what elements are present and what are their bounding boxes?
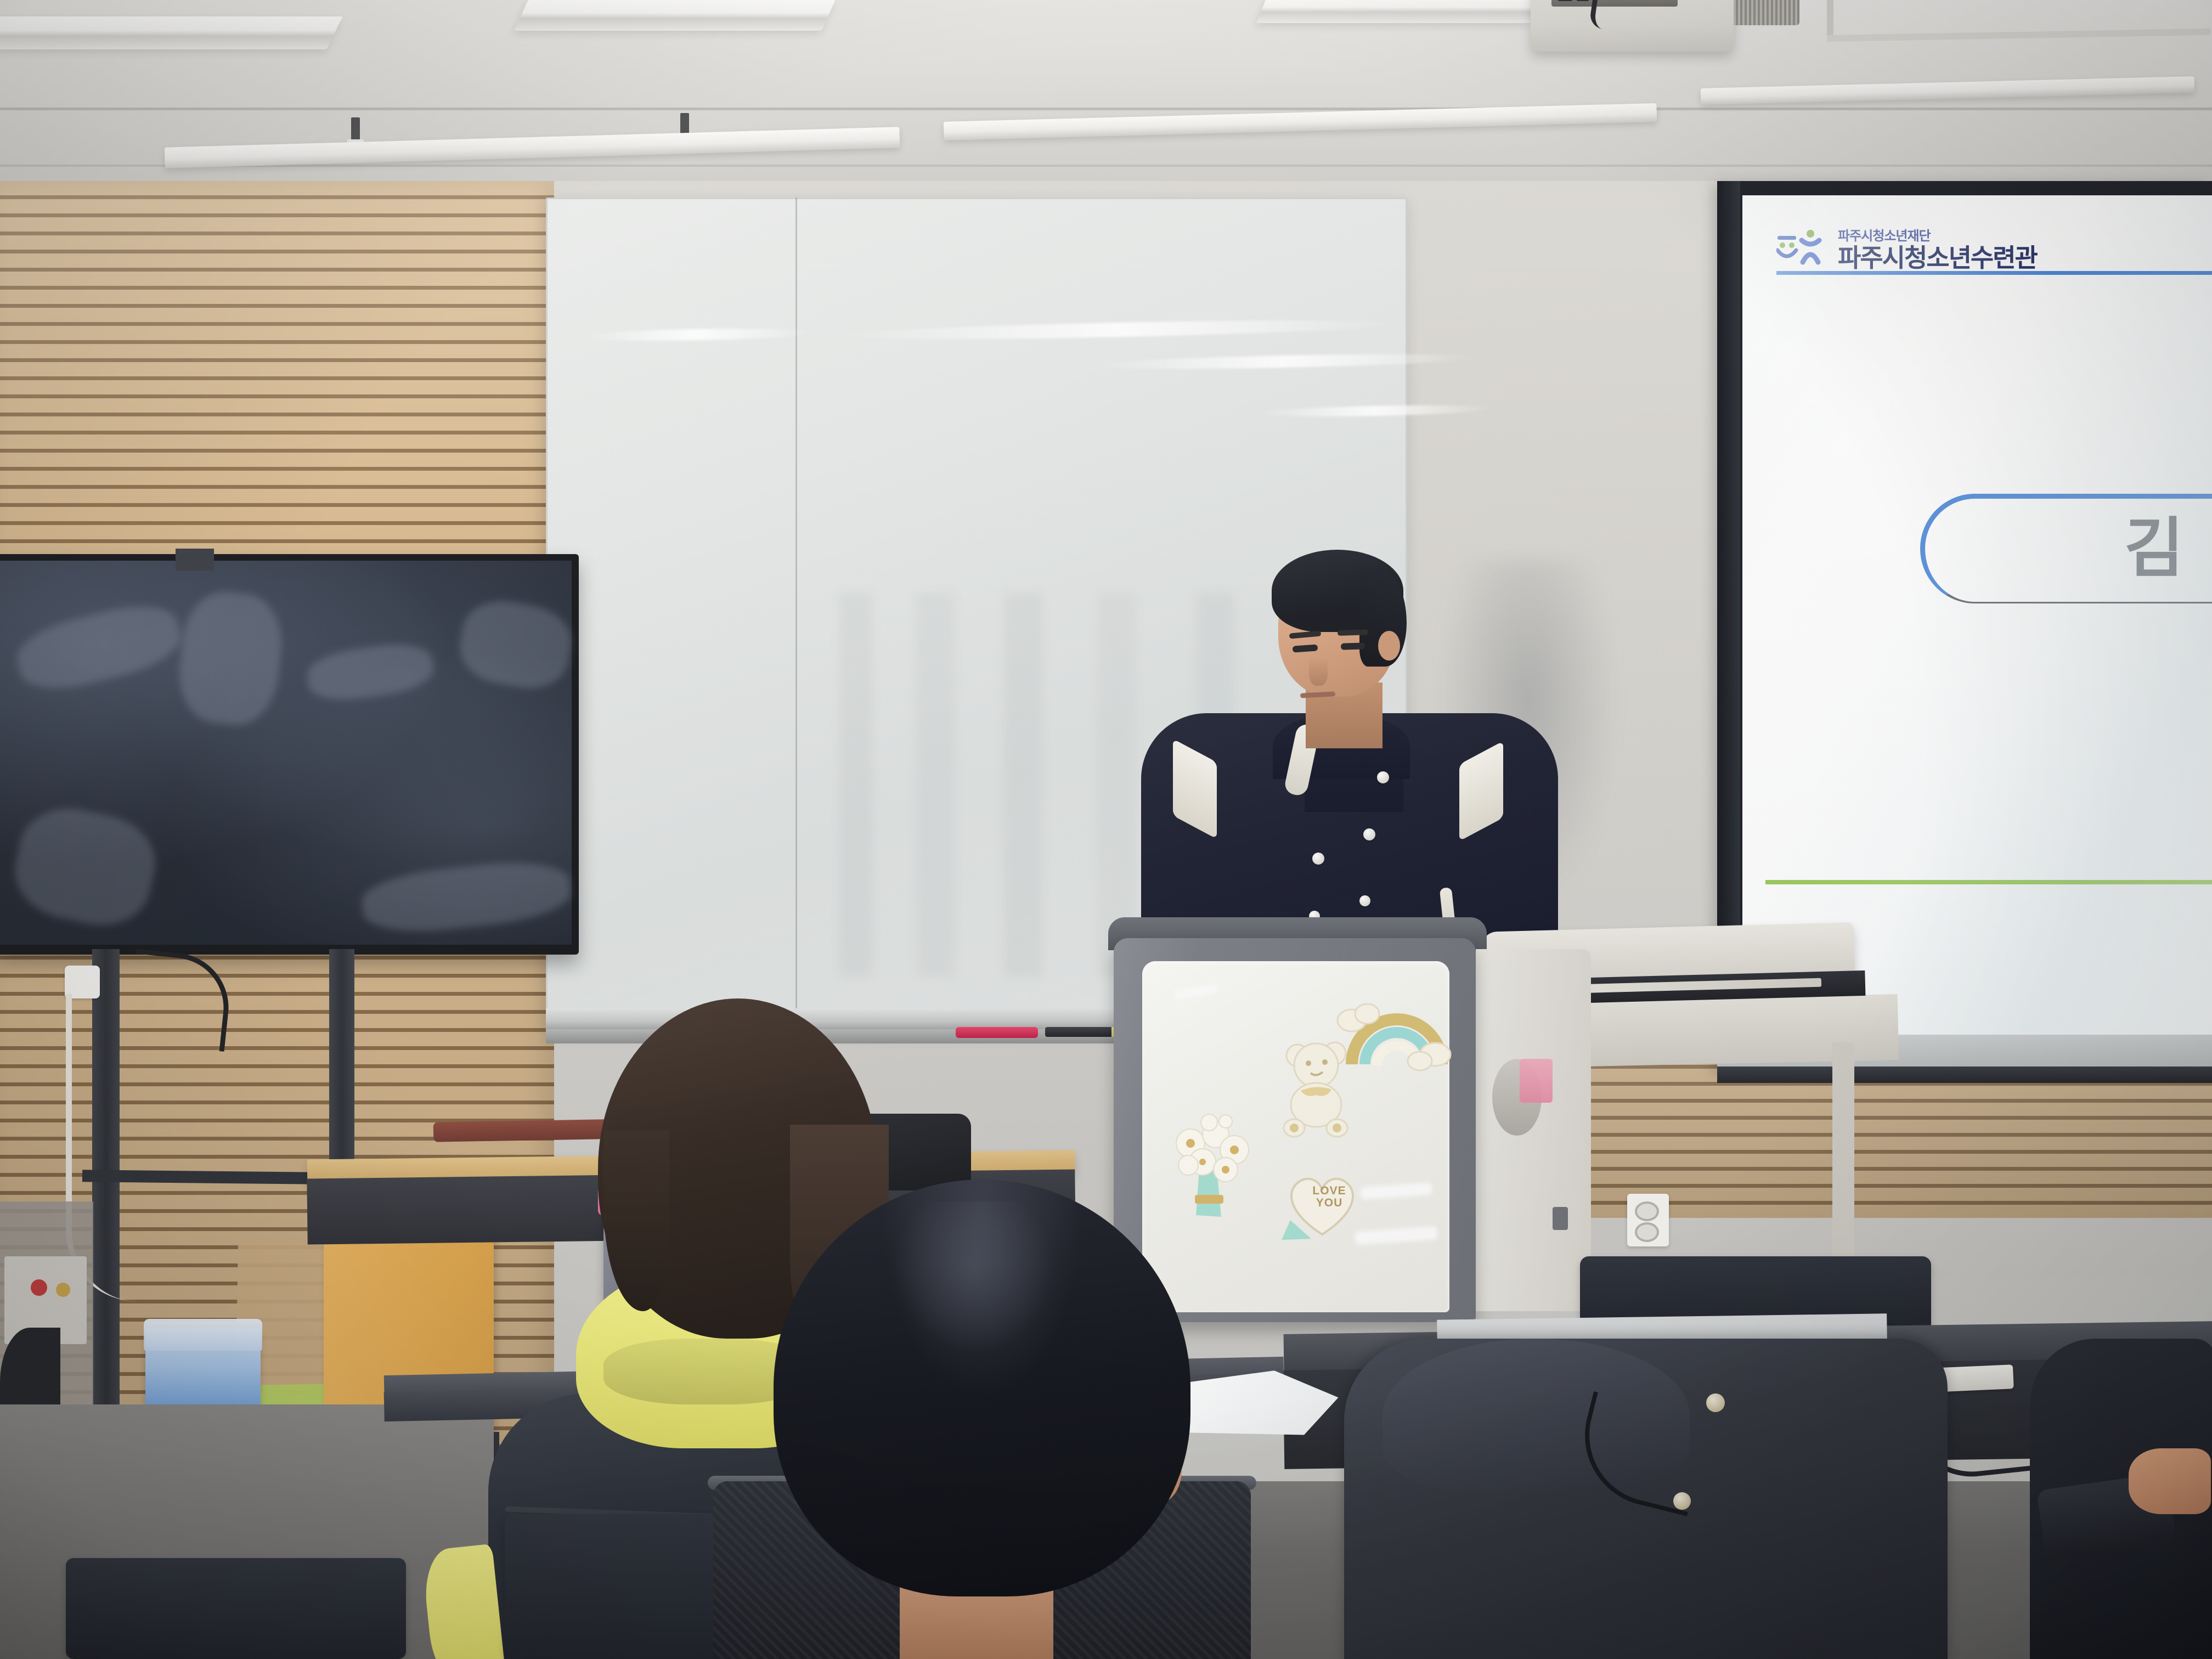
slide-pill-text: 김: [2124, 510, 2212, 587]
ceiling-projector: [1531, 0, 1734, 52]
jacket-button: [1359, 895, 1370, 906]
chair-back-left[interactable]: [66, 1558, 406, 1659]
red-knob[interactable]: [31, 1279, 47, 1296]
projector-port: [1558, 0, 1572, 1]
projector-port: [1577, 0, 1589, 1]
red-marker[interactable]: [956, 1027, 1038, 1038]
projection-screen-bottom-edge: [1717, 1066, 2212, 1083]
storage-bin-lid[interactable]: [144, 1319, 262, 1351]
ceiling-seam: [0, 108, 2212, 110]
light-hanger: [351, 117, 360, 142]
ceiling-light-troffer: [0, 16, 343, 49]
heart-label-line2: YOU: [1316, 1197, 1343, 1209]
ceiling-seam: [0, 165, 2212, 167]
smiley-person-logo-icon: [1776, 228, 1831, 267]
jacket-snap-button: [1673, 1492, 1691, 1510]
slide-green-rule: [1765, 880, 2212, 884]
presenter-ear: [1378, 631, 1400, 661]
presenter-nose: [1309, 657, 1328, 686]
outlet-socket[interactable]: [1635, 1222, 1659, 1242]
podium-side-panel: [1476, 949, 1591, 1311]
rainbow-cloud-sticker: [1333, 988, 1459, 1075]
jacket-button: [1312, 853, 1324, 865]
classroom-photo: 파주시청소년재단 파주시청소년수련관 김: [0, 0, 2212, 1659]
presenter-eyebrow: [1338, 629, 1368, 636]
slide-blue-rule: [1776, 271, 2212, 275]
hood-tail: [421, 1544, 506, 1659]
hair-strand: [603, 1130, 669, 1311]
outlet-socket[interactable]: [1635, 1201, 1659, 1221]
wall-outlet-left[interactable]: [65, 966, 100, 998]
jacket-button: [1363, 828, 1375, 840]
student-black-hair: [757, 1180, 1207, 1659]
heart-label-line1: LOVE: [1312, 1184, 1346, 1197]
projector-vent: [1734, 0, 1799, 25]
jacket-snap-button: [1706, 1393, 1725, 1412]
podium-lock[interactable]: [1553, 1207, 1568, 1230]
slide-header: 파주시청소년재단 파주시청소년수련관: [1776, 224, 2193, 271]
wall-outlet-right[interactable]: [1627, 1194, 1669, 1246]
presenter-eye: [1341, 642, 1365, 650]
jacket-button: [1377, 771, 1389, 783]
presenter: [1130, 549, 1569, 966]
hair-highlight: [883, 1201, 1064, 1366]
projection-screen-surface: [1742, 195, 2212, 1035]
projector-mount-arm: [1827, 0, 1833, 35]
tv-mount-bracket: [176, 549, 214, 571]
whiteboard-seam: [795, 198, 797, 1031]
black-marker[interactable]: [1045, 1027, 1114, 1037]
ceiling-light-troffer: [1256, 0, 1542, 23]
gold-knob[interactable]: [56, 1283, 70, 1297]
ceiling-light-troffer: [515, 0, 836, 31]
heart-sticker-label: LOVE YOU: [1299, 1185, 1359, 1209]
person-hand: [2129, 1448, 2211, 1514]
slide-org-title: 파주시청소년수련관: [1838, 238, 2037, 274]
podium-pink-item: [1520, 1059, 1553, 1103]
